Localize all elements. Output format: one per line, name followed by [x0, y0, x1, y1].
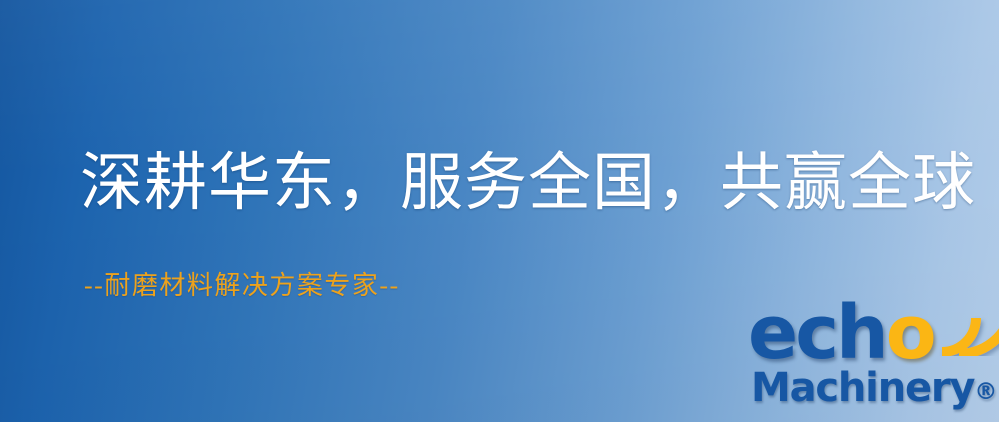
registered-trademark-icon: ® [974, 379, 997, 405]
banner-subtitle: --耐磨材料解决方案专家-- [84, 265, 400, 302]
promo-banner: 深耕华东，服务全国，共赢全球 --耐磨材料解决方案专家-- echo Machi… [0, 0, 999, 422]
banner-headline: 深耕华东，服务全国，共赢全球 [80, 148, 960, 220]
signal-waves-icon [926, 294, 999, 356]
logo-subtext-label: Machinery [751, 365, 974, 411]
logo-wordmark: echo [748, 296, 934, 370]
company-logo: echo Machinery® [748, 296, 999, 422]
logo-subtext: Machinery® [751, 368, 997, 408]
logo-wordmark-prefix: ech [748, 290, 886, 376]
